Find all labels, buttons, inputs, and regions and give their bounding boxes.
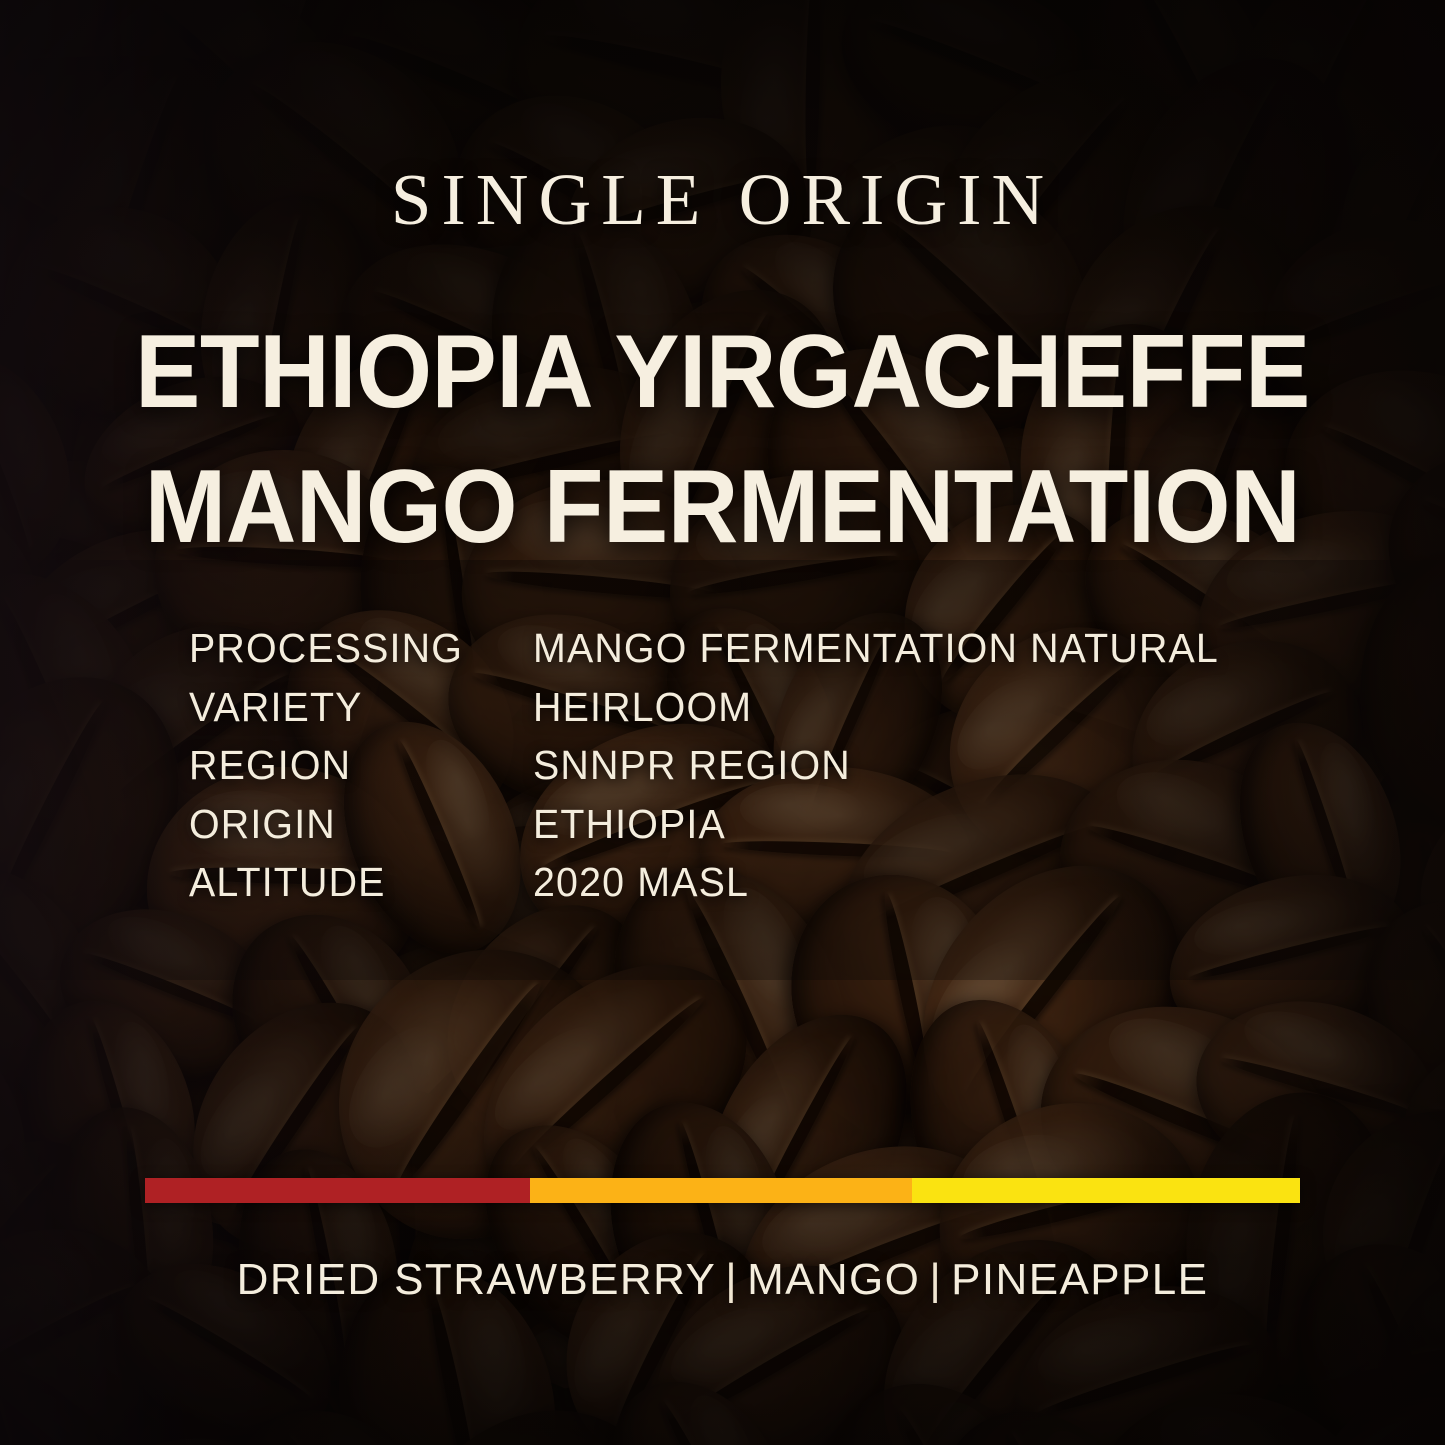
tasting-notes: DRIED STRAWBERRY|MANGO|PINEAPPLE bbox=[0, 1258, 1445, 1302]
spec-row: PROCESSINGMANGO FERMENTATION NATURAL bbox=[189, 628, 1299, 687]
tasting-note: PINEAPPLE bbox=[951, 1255, 1208, 1304]
spec-row: REGIONSNNPR REGION bbox=[189, 745, 1299, 804]
spec-value: HEIRLOOM bbox=[533, 687, 1268, 728]
spec-label: PROCESSING bbox=[189, 628, 519, 669]
spec-row: ORIGINETHIOPIA bbox=[189, 804, 1299, 863]
tasting-note: DRIED STRAWBERRY bbox=[237, 1255, 717, 1304]
spec-value: MANGO FERMENTATION NATURAL bbox=[533, 628, 1268, 669]
tasting-note-separator: | bbox=[920, 1255, 951, 1304]
label-content: SINGLE ORIGIN ETHIOPIA YIRGACHEFFE MANGO… bbox=[0, 0, 1445, 1445]
tasting-note: MANGO bbox=[747, 1255, 920, 1304]
specification-table: PROCESSINGMANGO FERMENTATION NATURALVARI… bbox=[189, 628, 1299, 921]
coffee-label-card: SINGLE ORIGIN ETHIOPIA YIRGACHEFFE MANGO… bbox=[0, 0, 1445, 1445]
spec-value: 2020 MASL bbox=[533, 862, 1268, 903]
spec-row: ALTITUDE2020 MASL bbox=[189, 862, 1299, 921]
spec-label: VARIETY bbox=[189, 687, 519, 728]
flavor-bar-segment-dried-strawberry bbox=[145, 1178, 530, 1203]
product-title-line-2: MANGO FERMENTATION bbox=[43, 440, 1401, 575]
spec-row: VARIETYHEIRLOOM bbox=[189, 687, 1299, 746]
spec-label: ORIGIN bbox=[189, 804, 519, 845]
spec-value: ETHIOPIA bbox=[533, 804, 1268, 845]
eyebrow-single-origin: SINGLE ORIGIN bbox=[0, 163, 1445, 236]
spec-label: REGION bbox=[189, 745, 519, 786]
tasting-note-separator: | bbox=[716, 1255, 747, 1304]
spec-value: SNNPR REGION bbox=[533, 745, 1268, 786]
flavor-bar-segment-pineapple bbox=[912, 1178, 1300, 1203]
product-title: ETHIOPIA YIRGACHEFFE MANGO FERMENTATION bbox=[43, 305, 1401, 575]
spec-label: ALTITUDE bbox=[189, 862, 519, 903]
flavor-bar-segment-mango bbox=[530, 1178, 912, 1203]
product-title-line-1: ETHIOPIA YIRGACHEFFE bbox=[43, 305, 1401, 440]
flavor-color-bar bbox=[145, 1178, 1300, 1203]
